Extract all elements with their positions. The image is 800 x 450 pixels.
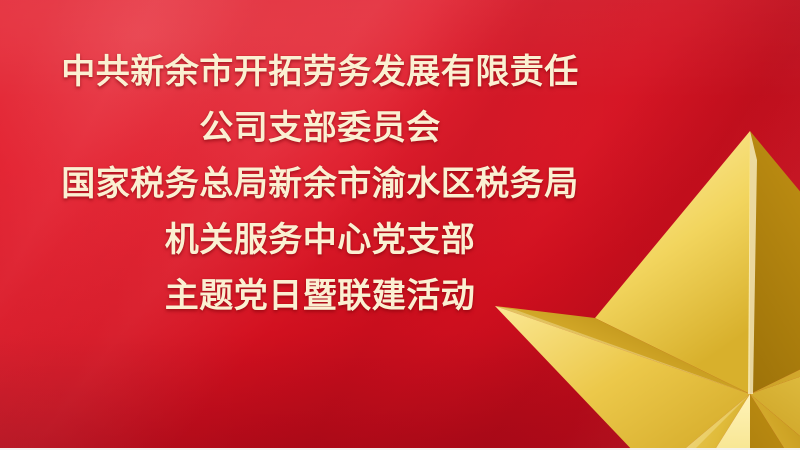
headline-line-5: 主题党日暨联建活动: [0, 268, 640, 324]
headline-block: 中共新余市开拓劳务发展有限责任 公司支部委员会 国家税务总局新余市渝水区税务局 …: [0, 44, 640, 324]
headline-line-1: 中共新余市开拓劳务发展有限责任: [0, 44, 640, 100]
headline-line-4: 机关服务中心党支部: [0, 212, 640, 268]
headline-line-2: 公司支部委员会: [0, 100, 640, 156]
banner-poster: 中共新余市开拓劳务发展有限责任 公司支部委员会 国家税务总局新余市渝水区税务局 …: [0, 0, 800, 450]
headline-line-3: 国家税务总局新余市渝水区税务局: [0, 156, 640, 212]
